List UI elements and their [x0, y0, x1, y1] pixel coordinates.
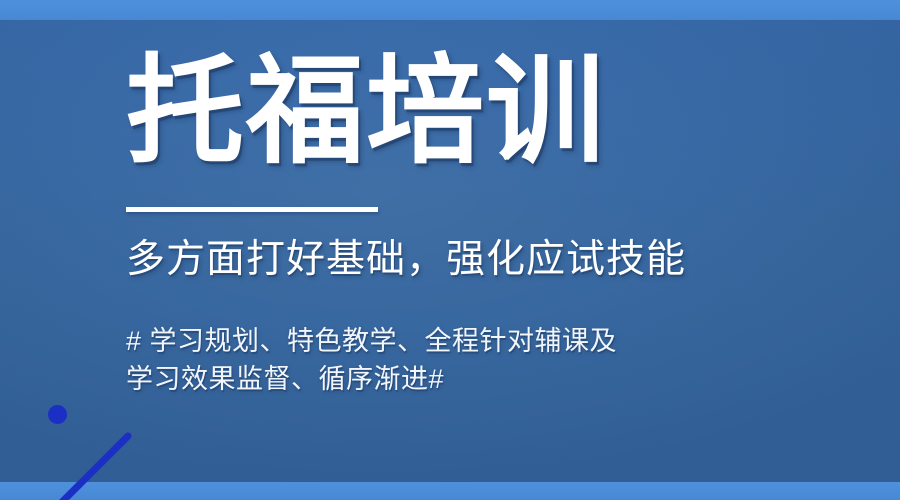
poster-content: 托福培训 多方面打好基础，强化应试技能 # 学习规划、特色教学、全程针对辅课及 …	[0, 0, 900, 500]
page-title: 托福培训	[126, 48, 606, 176]
poster-canvas: 托福培训 多方面打好基础，强化应试技能 # 学习规划、特色教学、全程针对辅课及 …	[0, 0, 900, 500]
poster-tagline-block: # 学习规划、特色教学、全程针对辅课及 学习效果监督、循序渐进#	[126, 322, 726, 398]
poster-subtitle: 多方面打好基础，强化应试技能	[126, 236, 686, 284]
tagline-second: 学习效果监督、循序渐进#	[126, 360, 726, 398]
tagline-first: # 学习规划、特色教学、全程针对辅课及	[126, 322, 726, 360]
title-divider-rule	[126, 207, 378, 212]
